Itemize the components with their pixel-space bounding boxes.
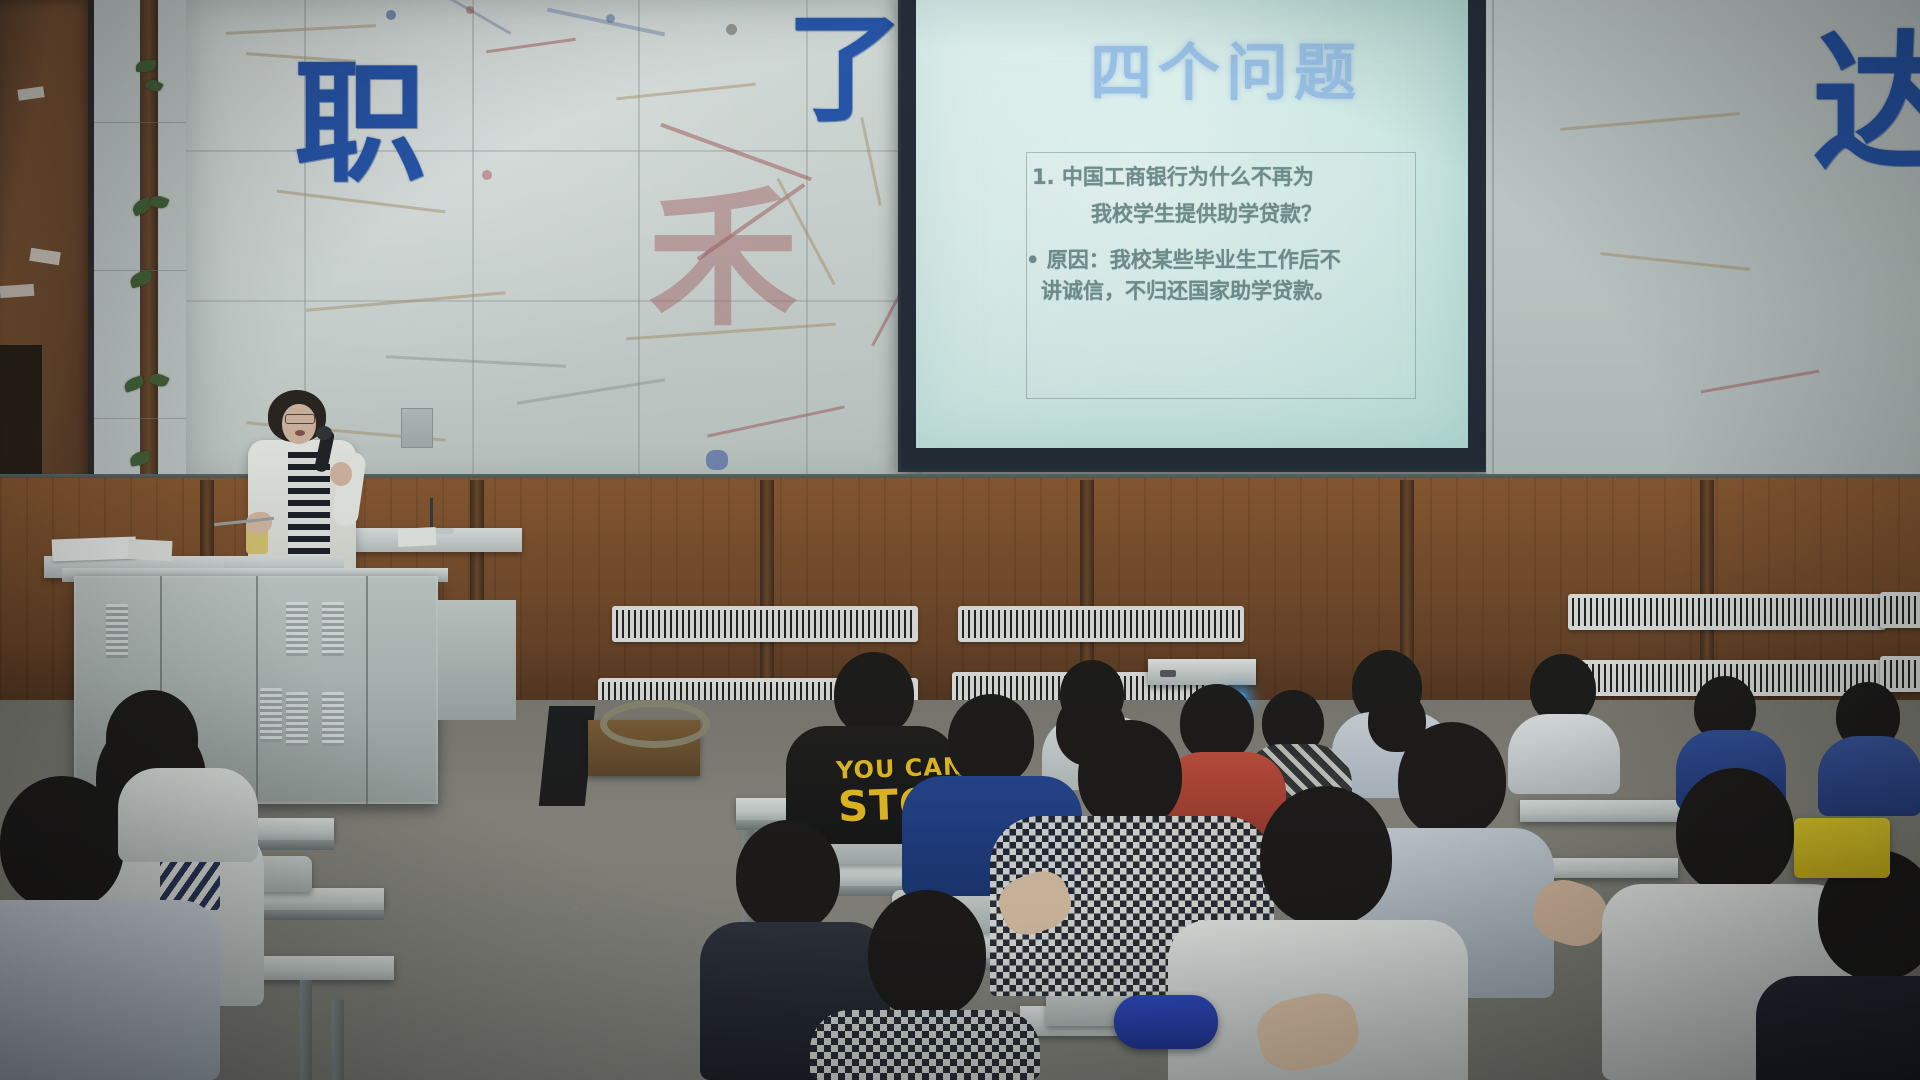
cable-coil [600, 700, 710, 748]
scribble [486, 38, 576, 53]
radiator-grille [1568, 594, 1886, 630]
scribble [547, 8, 665, 37]
student-head [1676, 768, 1794, 894]
graffiti-char-he: 禾 [648, 185, 798, 335]
graffiti-char-da: 达 [1812, 30, 1920, 180]
student-head [1398, 722, 1506, 838]
student-body-checkered [810, 1010, 1040, 1080]
podium-vent [106, 604, 128, 658]
desk-leg [300, 980, 312, 1080]
slide-line-4: 讲诚信，不归还国家助学贷款。 [1041, 276, 1335, 306]
student-head [736, 820, 840, 932]
lecturer-mouth [295, 430, 305, 436]
panel-seam [94, 122, 188, 123]
podium-seam [366, 576, 368, 804]
podium-vent [286, 602, 308, 656]
podium-vent [322, 602, 344, 656]
graffiti-char-le: 了 [786, 10, 904, 128]
student-head [948, 694, 1034, 786]
student-head [1180, 684, 1254, 762]
radiator-grille [612, 606, 918, 642]
student-body [0, 900, 220, 1080]
blue-jacket-roll [1114, 995, 1218, 1049]
podium-vent [260, 688, 282, 742]
scribble [386, 355, 566, 367]
slide-line-2: 我校学生提供助学贷款？ [1091, 199, 1322, 229]
board-seam [638, 0, 640, 486]
student-head [1078, 720, 1182, 830]
microphone-head [316, 426, 332, 440]
desk-leg [332, 1000, 344, 1080]
wall-seam [1492, 0, 1494, 492]
student-head [868, 890, 986, 1018]
paint-blob [706, 450, 728, 470]
scribble [441, 0, 512, 35]
scribble [707, 405, 845, 437]
yellow-bag [1794, 818, 1890, 878]
paper-stack [52, 537, 137, 562]
radiator-grille [958, 606, 1244, 642]
paint-blob [726, 24, 737, 35]
student-head [834, 652, 914, 736]
wall-socket [401, 408, 433, 448]
paint-blob [386, 10, 396, 20]
projector-lens [1160, 670, 1176, 677]
paper-sheet [398, 527, 437, 547]
lecturer-hand [330, 462, 352, 486]
paint-blob [482, 170, 492, 180]
podium-vent [286, 692, 308, 746]
podium-seam [256, 576, 258, 804]
paper-sheet [128, 539, 173, 561]
student-body [1818, 736, 1920, 816]
scribble [226, 24, 376, 35]
glasses-icon [285, 414, 315, 424]
slide-line-3: • 原因：我校某些毕业生工作后不 [1026, 245, 1341, 275]
student-body [1508, 714, 1620, 794]
board-seam [472, 0, 474, 486]
paper-scrap [29, 248, 61, 266]
student-body [118, 768, 258, 862]
classroom-photo: 职 了 禾 四个问题 1. 中国工商银行为什么不再为 我校学生提供助学贷款？ •… [0, 0, 1920, 1080]
lecturer-face [282, 404, 316, 444]
student-desk [1520, 800, 1700, 822]
scribble [517, 378, 666, 404]
paper-scrap [17, 86, 44, 101]
paint-blob [606, 14, 615, 23]
student-desk [1548, 858, 1678, 878]
lecturer-hand-left [246, 512, 272, 534]
board-seam [186, 300, 922, 302]
panel-seam [94, 418, 188, 419]
student-head [1260, 786, 1392, 926]
side-desk [438, 600, 516, 720]
slide-line-1: 1. 中国工商银行为什么不再为 [1032, 162, 1314, 192]
radiator-grille [1880, 592, 1920, 628]
wall-pillar [760, 480, 774, 708]
paper-scrap [0, 284, 34, 298]
student-desk [254, 956, 394, 980]
student-head [0, 776, 124, 910]
slide-title: 四个问题 [1090, 22, 1470, 112]
radiator-grille [1880, 656, 1920, 692]
podium-vent [322, 692, 344, 746]
graffiti-char-zhi: 职 [294, 58, 426, 190]
student-body-dark [1756, 976, 1920, 1080]
